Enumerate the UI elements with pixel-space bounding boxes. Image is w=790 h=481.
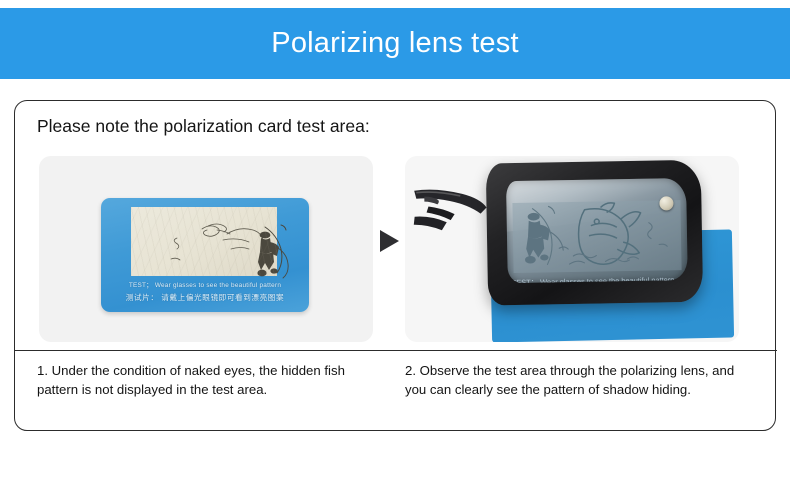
revealed-fish-pattern-sketch	[512, 200, 681, 273]
figure-row: TEST； Wear glasses to see the beautiful …	[15, 156, 777, 346]
panel-heading: Please note the polarization card test a…	[37, 116, 370, 137]
card-caption-english: TEST； Wear glasses to see the beautiful …	[101, 280, 309, 289]
caption-row: 1. Under the condition of naked eyes, th…	[15, 350, 777, 430]
card-test-window	[131, 207, 277, 276]
card-caption-chinese: 测试片： 请戴上偏光眼镜即可看到漂亮图案	[101, 292, 309, 303]
page-title: Polarizing lens test	[271, 29, 518, 58]
figure-card-through-lens: TEST； Wear glasses to see the beautiful …	[405, 156, 739, 342]
content-panel: Please note the polarization card test a…	[14, 100, 776, 431]
caption-step-2: 2. Observe the test area through the pol…	[405, 362, 757, 399]
polarizing-lens: TEST； Wear glasses to see the beautiful …	[506, 178, 688, 283]
hidden-fish-pattern-sketch	[161, 216, 307, 285]
figure-bare-card: TEST； Wear glasses to see the beautiful …	[39, 156, 373, 342]
revealed-fish-pattern-area	[512, 200, 681, 273]
page-banner: Polarizing lens test	[0, 8, 790, 79]
right-pointing-arrow-icon	[380, 230, 399, 252]
caption-step-1: 1. Under the condition of naked eyes, th…	[37, 362, 373, 399]
polarizing-lens-test-page: Polarizing lens test Please note the pol…	[0, 0, 790, 481]
polarizing-sunglasses: TEST； Wear glasses to see the beautiful …	[412, 159, 735, 313]
polarization-test-card: TEST； Wear glasses to see the beautiful …	[101, 198, 309, 312]
